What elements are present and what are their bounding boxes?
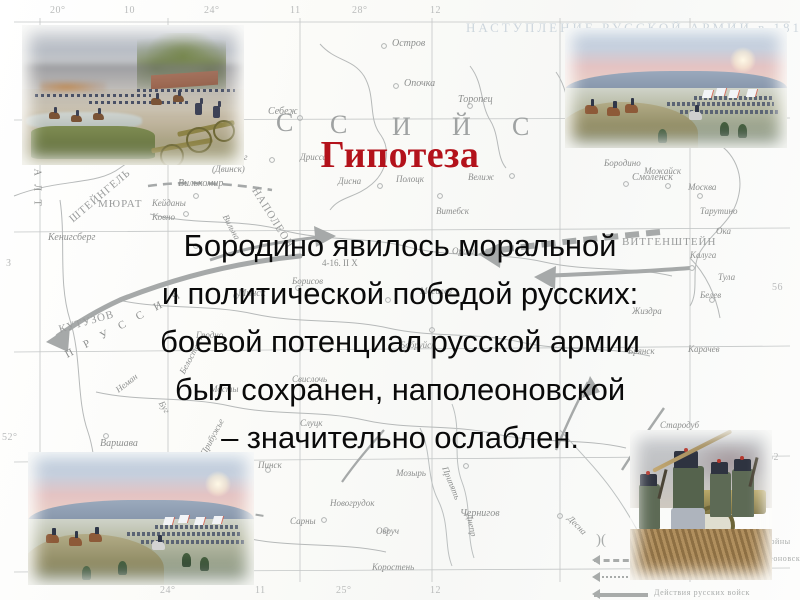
map-place-ovruch: Овруч xyxy=(376,526,399,536)
map-tick-bottom-2: 11 xyxy=(255,585,266,596)
map-tick-top-6: 12 xyxy=(430,5,441,16)
map-place-korosten: Коростень xyxy=(372,562,414,572)
map-place-disna: Дисна xyxy=(338,176,361,186)
map-place-ostrov: Остров xyxy=(392,38,425,49)
map-tick-top-1: 20° xyxy=(50,5,66,16)
slide-body-text: Бородино явилось моральной и политическо… xyxy=(0,222,800,462)
legend-label-russian: Действия русских войск xyxy=(654,588,750,597)
body-line-5: – значительно ослаблен. xyxy=(0,414,800,462)
map-tick-top-4: 11 xyxy=(290,5,301,16)
battle-symbol-icon: )( xyxy=(596,532,606,549)
arrow-head-icon-3 xyxy=(592,589,600,599)
map-place-mozyr: Мозырь xyxy=(396,468,426,478)
body-line-4: был сохранен, наполеоновской xyxy=(0,366,800,414)
map-tick-bottom-1: 24° xyxy=(160,585,176,596)
map-place-vitebsk: Витебск xyxy=(436,206,469,216)
map-place-keidany: Кейданы xyxy=(152,198,186,208)
illustration-cavalry-hill-bottom xyxy=(28,452,254,585)
body-line-2: и политической победой русских: xyxy=(0,270,800,318)
map-place-tarutino: Тарутино xyxy=(700,206,738,216)
map-place-sebezh: Себеж xyxy=(268,106,298,117)
legend-row-russian: Действия русских войск xyxy=(592,587,797,600)
illustration-cavalry-hill-top xyxy=(565,28,787,148)
body-line-3: боевой потенциал русской армии xyxy=(0,318,800,366)
map-tick-top-3: 24° xyxy=(204,5,220,16)
map-place-novogrudok: Новогрудок xyxy=(330,498,374,508)
map-tick-bottom-4: 12 xyxy=(430,585,441,596)
map-place-moskva: Москва xyxy=(688,182,716,192)
map-place-toropets: Торопец xyxy=(458,94,493,105)
arrow-head-icon-2 xyxy=(592,572,600,582)
body-line-1: Бородино явилось моральной xyxy=(0,222,800,270)
map-place-vilkomir: Вилькомир xyxy=(178,178,223,189)
map-place-sarny: Сарны xyxy=(290,516,316,526)
slide-title: Гипотеза xyxy=(0,133,800,177)
map-tick-top-2: 10 xyxy=(124,5,135,16)
map-place-kovno: Ковно xyxy=(152,212,175,222)
map-tick-bottom-3: 25° xyxy=(336,585,352,596)
solid-line-icon xyxy=(594,593,648,597)
presentation-slide: НАСТУПЛЕНИЕ РУССКОЙ АРМИИ в 1812 г. С С … xyxy=(0,0,800,600)
map-place-opochka: Опочка xyxy=(404,78,435,89)
arrow-head-icon xyxy=(592,555,600,565)
map-tick-top-5: 28° xyxy=(352,5,368,16)
